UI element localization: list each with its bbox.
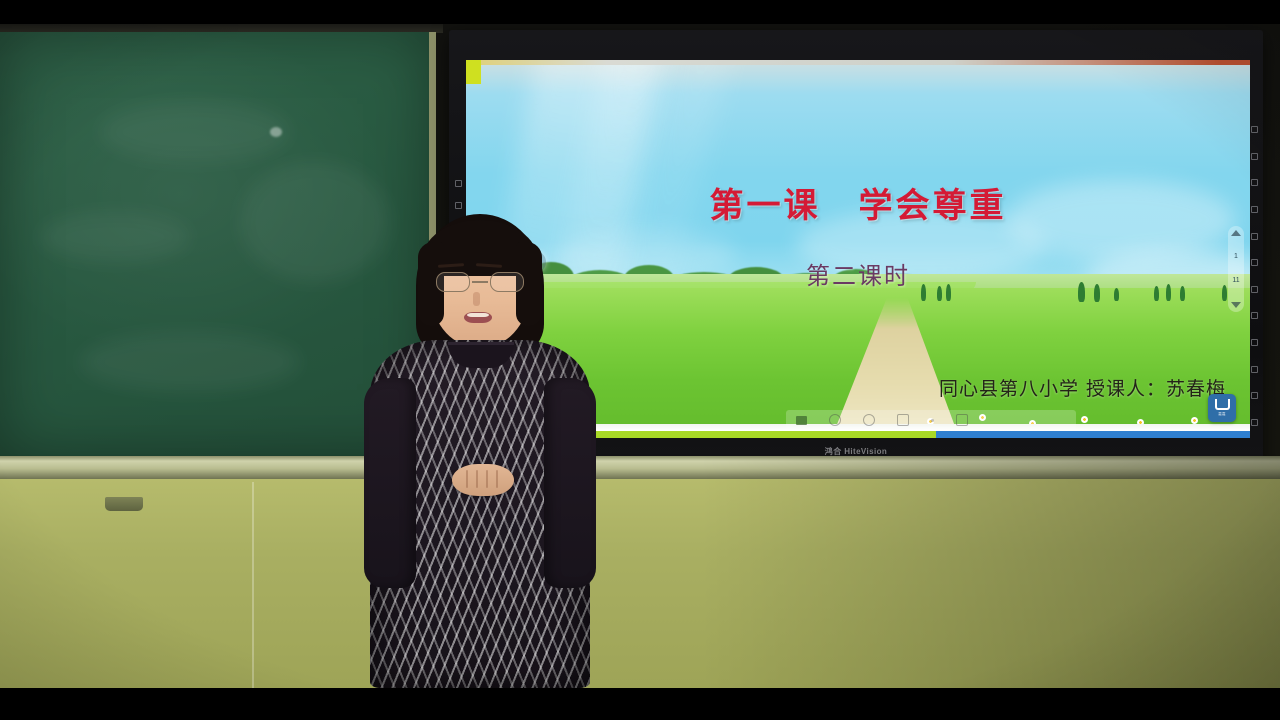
page-total: 11 [1232, 277, 1239, 285]
menu-icon[interactable] [455, 180, 462, 187]
logo-caption: 嘉嘉 [1218, 412, 1225, 417]
lens-left [436, 272, 470, 292]
arm-left [364, 378, 416, 588]
icon-11[interactable] [1251, 392, 1258, 399]
icon-6[interactable] [1251, 259, 1258, 266]
publisher-logo-watermark: 嘉嘉 [1208, 394, 1236, 422]
page-up-icon[interactable] [1231, 230, 1241, 236]
icon-7[interactable] [1251, 286, 1258, 293]
icon-4[interactable] [1251, 206, 1258, 213]
nose [473, 292, 480, 306]
icon-8[interactable] [1251, 312, 1258, 319]
icon-3[interactable] [1251, 179, 1258, 186]
slide-credit-line: 同心县第八小学 授课人：苏春梅 [939, 374, 1226, 401]
glasses-bridge [472, 281, 488, 283]
whiteboard-right-bezel-controls[interactable] [1248, 126, 1261, 426]
slide-top-strip [466, 60, 1250, 65]
pen-icon[interactable] [796, 416, 807, 425]
icon-10[interactable] [1251, 366, 1258, 373]
icon-12[interactable] [1251, 419, 1258, 426]
letterbox-bottom [0, 688, 1280, 720]
logo-glyph-icon [1215, 399, 1230, 410]
slide-top-accent-block [466, 60, 481, 84]
clasped-hands [452, 464, 514, 496]
screen-icon[interactable] [897, 414, 909, 426]
slide-floating-toolbar[interactable] [786, 410, 1076, 430]
presenter [360, 214, 600, 688]
mouth [464, 312, 492, 323]
teeth [467, 313, 489, 317]
icon-2[interactable] [1251, 153, 1258, 160]
icon-5[interactable] [1251, 233, 1258, 240]
wall-shadow [700, 479, 1280, 688]
more-icon[interactable] [931, 419, 934, 422]
chalk-rail-shadow [700, 456, 1280, 479]
lens-right [490, 272, 524, 292]
chalk-tray [105, 497, 143, 511]
glasses-icon [434, 272, 526, 292]
page-down-icon[interactable] [1231, 302, 1241, 308]
arm-right [544, 378, 596, 588]
icon-9[interactable] [1251, 339, 1258, 346]
slide-title-part1: 第一课 [710, 186, 821, 226]
letterbox-top [0, 0, 1280, 24]
classroom-scene: 第一课学会尊重 第二课时 同心县第八小学 授课人：苏春梅 [0, 24, 1280, 688]
volume-icon[interactable] [455, 202, 462, 209]
slide-title-part2: 学会尊重 [859, 186, 1007, 226]
screen-capture-frame: 第一课学会尊重 第二课时 同心县第八小学 授课人：苏春梅 [0, 0, 1280, 720]
eraser-icon[interactable] [829, 414, 841, 426]
slide-page-nav[interactable]: 1 11 [1228, 226, 1244, 312]
wall-panel-seam [252, 482, 254, 688]
camera-icon[interactable] [956, 414, 968, 426]
lasso-icon[interactable] [863, 414, 875, 426]
slide-accent-blue [936, 431, 1250, 438]
page-current: 1 [1234, 253, 1238, 261]
icon-1[interactable] [1251, 126, 1258, 133]
